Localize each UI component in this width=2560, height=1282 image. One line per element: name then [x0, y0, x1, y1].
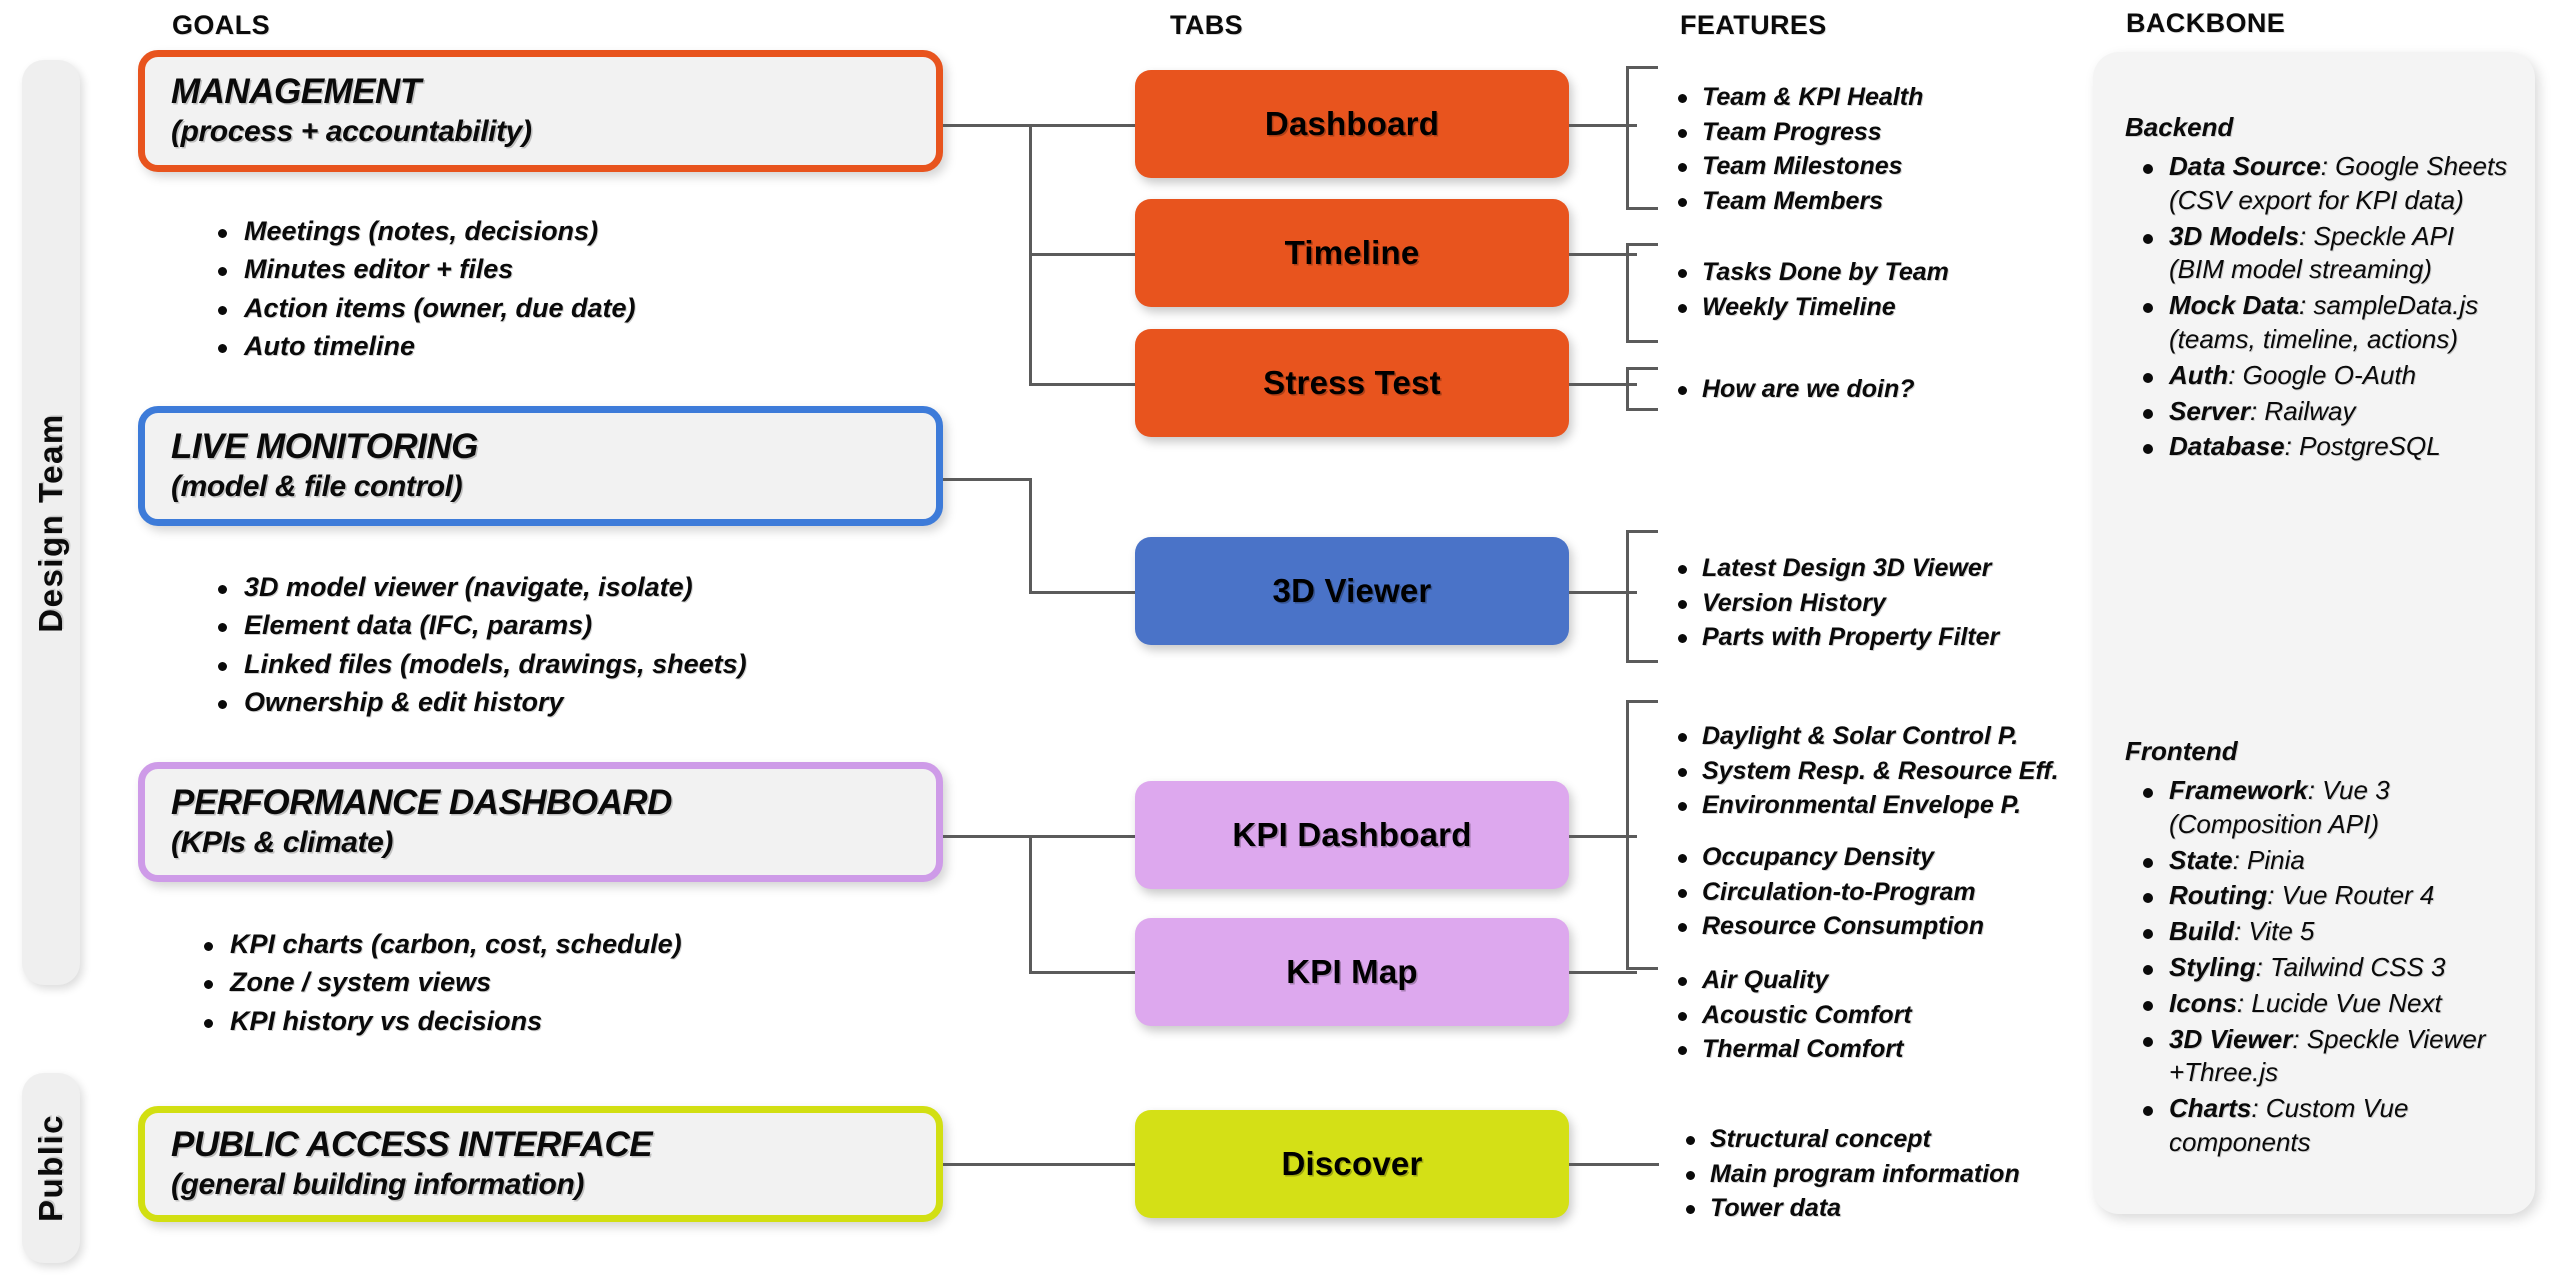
list-item: Routing: Vue Router 4	[2135, 879, 2510, 913]
column-header-goals: GOALS	[172, 10, 270, 41]
backbone-item-key: Charts	[2169, 1093, 2251, 1123]
list-item: Linked files (models, drawings, sheets)	[210, 645, 747, 683]
backbone-item-value: : Railway	[2250, 396, 2355, 426]
list-item: Element data (IFC, params)	[210, 606, 747, 644]
backbone-item-value: : Vite 5	[2234, 916, 2314, 946]
tab-label-timeline: Timeline	[1285, 234, 1420, 272]
goal-bullets-performance-dashboard: KPI charts (carbon, cost, schedule) Zone…	[196, 925, 682, 1040]
list-item: Data Source: Google Sheets (CSV export f…	[2135, 150, 2510, 218]
backbone-item-key: Database	[2169, 431, 2285, 461]
connector-management-stub	[943, 124, 1031, 127]
backbone-item-value: : Lucide Vue Next	[2237, 988, 2442, 1018]
list-item: Tower data	[1680, 1191, 2020, 1226]
rail-public: Public	[22, 1073, 80, 1263]
tab-stress-test[interactable]: Stress Test	[1135, 329, 1569, 437]
list-item: 3D Models: Speckle API (BIM model stream…	[2135, 220, 2510, 288]
backbone-item-value: : Pinia	[2233, 845, 2305, 875]
features-kpi-dashboard: Daylight & Solar Control P. System Resp.…	[1672, 719, 2059, 823]
features-timeline: Tasks Done by Team Weekly Timeline	[1672, 255, 1949, 324]
features-dashboard: Team & KPI Health Team Progress Team Mil…	[1672, 80, 1923, 218]
backbone-item-key: 3D Viewer	[2169, 1024, 2292, 1054]
list-item: Daylight & Solar Control P.	[1672, 719, 2059, 754]
list-item: 3D model viewer (navigate, isolate)	[210, 568, 747, 606]
goal-title-management: MANAGEMENT	[171, 72, 936, 112]
backbone-item-key: 3D Models	[2169, 221, 2299, 251]
list-item: Weekly Timeline	[1672, 290, 1949, 325]
backbone-item-key: Auth	[2169, 360, 2228, 390]
tab-label-3d-viewer: 3D Viewer	[1273, 572, 1432, 610]
column-header-tabs: TABS	[1170, 10, 1243, 41]
list-item: 3D Viewer: Speckle Viewer +Three.js	[2135, 1023, 2510, 1091]
features-kpi-map: Air Quality Acoustic Comfort Thermal Com…	[1672, 963, 1912, 1067]
list-item: Air Quality	[1672, 963, 1912, 998]
list-item: KPI history vs decisions	[196, 1002, 682, 1040]
goal-title-performance-dashboard: PERFORMANCE DASHBOARD	[171, 783, 936, 823]
connector-kpi-map-to-features	[1569, 971, 1637, 974]
connector-live-monitoring-to-3d-viewer	[1029, 591, 1135, 594]
list-item: Latest Design 3D Viewer	[1672, 551, 1999, 586]
list-item: Ownership & edit history	[210, 683, 747, 721]
connector-public-to-discover	[943, 1163, 1135, 1166]
list-item: Styling: Tailwind CSS 3	[2135, 951, 2510, 985]
goal-subtitle-live-monitoring: (model & file control)	[171, 469, 936, 505]
list-item: Mock Data: sampleData.js (teams, timelin…	[2135, 289, 2510, 357]
list-item: Minutes editor + files	[210, 250, 636, 288]
backbone-backend-list: Data Source: Google Sheets (CSV export f…	[2135, 150, 2510, 466]
list-item: Server: Railway	[2135, 395, 2510, 429]
goal-bullets-management: Meetings (notes, decisions) Minutes edit…	[210, 212, 636, 365]
goal-bullets-live-monitoring: 3D model viewer (navigate, isolate) Elem…	[210, 568, 747, 721]
list-item: Parts with Property Filter	[1672, 620, 1999, 655]
list-item: Tasks Done by Team	[1672, 255, 1949, 290]
rail-design-team: Design Team	[22, 60, 80, 985]
connector-performance-to-kpi-map	[1029, 971, 1135, 974]
connector-discover-to-features	[1569, 1163, 1659, 1166]
backbone-item-key: Icons	[2169, 988, 2237, 1018]
connector-performance-stub	[943, 835, 1031, 838]
goal-subtitle-management: (process + accountability)	[171, 114, 936, 150]
goal-card-performance-dashboard[interactable]: PERFORMANCE DASHBOARD (KPIs & climate)	[138, 762, 943, 882]
bracket-dashboard-features	[1626, 66, 1658, 210]
list-item: Resource Consumption	[1672, 909, 1984, 944]
tab-kpi-map[interactable]: KPI Map	[1135, 918, 1569, 1026]
list-item: Environmental Envelope P.	[1672, 788, 2059, 823]
list-item: Meetings (notes, decisions)	[210, 212, 636, 250]
backbone-item-key: Data Source	[2169, 151, 2321, 181]
list-item: Framework: Vue 3 (Composition API)	[2135, 774, 2510, 842]
column-header-backbone: BACKBONE	[2126, 8, 2285, 39]
list-item: Charts: Custom Vue components	[2135, 1092, 2510, 1160]
rail-label-design-team: Design Team	[32, 413, 70, 632]
backbone-item-key: Mock Data	[2169, 290, 2299, 320]
list-item: How are we doin?	[1672, 372, 1915, 407]
bracket-timeline-features	[1626, 243, 1658, 343]
bracket-3d-viewer-features	[1626, 530, 1658, 663]
connector-live-monitoring-stub	[943, 478, 1031, 481]
goal-title-live-monitoring: LIVE MONITORING	[171, 427, 936, 467]
backbone-item-key: Styling	[2169, 952, 2256, 982]
connector-management-to-timeline	[1029, 253, 1135, 256]
list-item: Team Milestones	[1672, 149, 1923, 184]
list-item: Team & KPI Health	[1672, 80, 1923, 115]
list-item: Zone / system views	[196, 963, 682, 1001]
goal-subtitle-public-access-interface: (general building information)	[171, 1167, 936, 1203]
tab-label-kpi-dashboard: KPI Dashboard	[1232, 816, 1471, 854]
tab-3d-viewer[interactable]: 3D Viewer	[1135, 537, 1569, 645]
backbone-item-key: State	[2169, 845, 2233, 875]
goal-title-public-access-interface: PUBLIC ACCESS INTERFACE	[171, 1125, 936, 1165]
backbone-item-key: Routing	[2169, 880, 2267, 910]
bracket-stress-test-features	[1626, 367, 1658, 411]
tab-label-dashboard: Dashboard	[1265, 105, 1439, 143]
goal-subtitle-performance-dashboard: (KPIs & climate)	[171, 825, 936, 861]
backbone-item-key: Server	[2169, 396, 2250, 426]
diagram-canvas: GOALS TABS FEATURES BACKBONE Design Team…	[0, 0, 2560, 1282]
bracket-kpi-dashboard-features	[1626, 700, 1658, 970]
column-header-features: FEATURES	[1680, 10, 1827, 41]
backbone-frontend-title: Frontend	[2125, 736, 2238, 767]
backbone-item-value: : Google O-Auth	[2228, 360, 2416, 390]
features-discover: Structural concept Main program informat…	[1680, 1122, 2020, 1226]
list-item: Circulation-to-Program	[1672, 875, 1984, 910]
list-item: Main program information	[1680, 1157, 2020, 1192]
list-item: Team Progress	[1672, 115, 1923, 150]
list-item: KPI charts (carbon, cost, schedule)	[196, 925, 682, 963]
goal-card-public-access-interface[interactable]: PUBLIC ACCESS INTERFACE (general buildin…	[138, 1106, 943, 1222]
features-kpi-dashboard-secondary: Occupancy Density Circulation-to-Program…	[1672, 840, 1984, 944]
list-item: Thermal Comfort	[1672, 1032, 1912, 1067]
list-item: Auto timeline	[210, 327, 636, 365]
list-item: Acoustic Comfort	[1672, 998, 1912, 1033]
list-item: Team Members	[1672, 184, 1923, 219]
backbone-backend-title: Backend	[2125, 112, 2233, 143]
backbone-item-value: : PostgreSQL	[2285, 431, 2441, 461]
tab-label-stress-test: Stress Test	[1263, 364, 1441, 402]
backbone-panel: Backend Data Source: Google Sheets (CSV …	[2093, 52, 2535, 1214]
tab-discover[interactable]: Discover	[1135, 1110, 1569, 1218]
features-stress-test: How are we doin?	[1672, 372, 1915, 407]
list-item: Database: PostgreSQL	[2135, 430, 2510, 464]
tab-label-kpi-map: KPI Map	[1286, 953, 1418, 991]
connector-performance-trunk	[1029, 835, 1032, 973]
connector-management-to-dashboard	[1029, 124, 1135, 127]
list-item: Icons: Lucide Vue Next	[2135, 987, 2510, 1021]
list-item: Occupancy Density	[1672, 840, 1984, 875]
list-item: Version History	[1672, 586, 1999, 621]
list-item: Action items (owner, due date)	[210, 289, 636, 327]
features-3d-viewer: Latest Design 3D Viewer Version History …	[1672, 551, 1999, 655]
goal-card-live-monitoring[interactable]: LIVE MONITORING (model & file control)	[138, 406, 943, 526]
tab-kpi-dashboard[interactable]: KPI Dashboard	[1135, 781, 1569, 889]
list-item: System Resp. & Resource Eff.	[1672, 754, 2059, 789]
list-item: Structural concept	[1680, 1122, 2020, 1157]
backbone-item-key: Framework	[2169, 775, 2308, 805]
list-item: Build: Vite 5	[2135, 915, 2510, 949]
goal-card-management[interactable]: MANAGEMENT (process + accountability)	[138, 50, 943, 172]
tab-timeline[interactable]: Timeline	[1135, 199, 1569, 307]
backbone-item-value: : Vue Router 4	[2267, 880, 2434, 910]
backbone-item-value: : Tailwind CSS 3	[2256, 952, 2446, 982]
rail-label-public: Public	[32, 1114, 70, 1222]
tab-label-discover: Discover	[1281, 1145, 1422, 1183]
connector-live-monitoring-trunk	[1029, 478, 1032, 591]
backbone-frontend-list: Framework: Vue 3 (Composition API) State…	[2135, 774, 2510, 1162]
connector-management-to-stress-test	[1029, 383, 1135, 386]
connector-performance-to-kpi-dashboard	[1029, 835, 1135, 838]
list-item: State: Pinia	[2135, 844, 2510, 878]
tab-dashboard[interactable]: Dashboard	[1135, 70, 1569, 178]
backbone-item-key: Build	[2169, 916, 2234, 946]
list-item: Auth: Google O-Auth	[2135, 359, 2510, 393]
